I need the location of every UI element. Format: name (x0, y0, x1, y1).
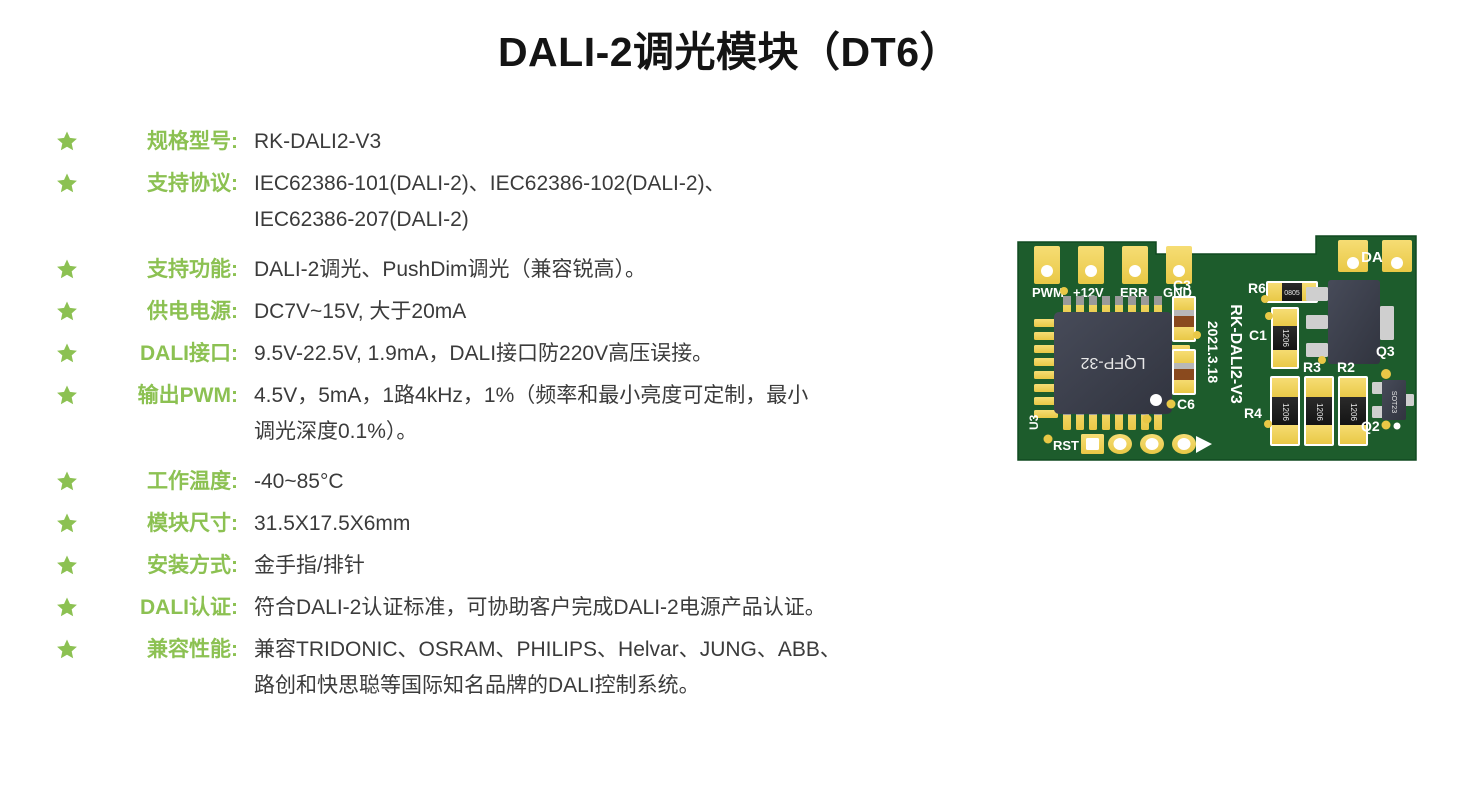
spec-row: 支持功能: DALI-2调光、PushDim调光（兼容锐高）。 (56, 256, 986, 284)
pcb-board-image: PWM +12V ERR GND (1016, 234, 1418, 462)
spec-value: -40~85°C (238, 468, 986, 496)
spec-value-line: 兼容TRIDONIC、OSRAM、PHILIPS、Helvar、JUNG、ABB… (254, 636, 986, 664)
star-icon (56, 596, 86, 618)
star-icon (56, 512, 86, 534)
spec-row: 工作温度: -40~85°C (56, 468, 986, 496)
spec-value-line: -40~85°C (254, 468, 986, 496)
spec-label: 模块尺寸: (86, 510, 238, 538)
page-title: DALI-2调光模块（DT6） (0, 28, 1459, 77)
spec-label: 安装方式: (86, 552, 238, 580)
spec-value-line: RK-DALI2-V3 (254, 128, 986, 156)
pcb-designator-c1: C1 (1249, 327, 1267, 343)
spec-value-line: 31.5X17.5X6mm (254, 510, 986, 538)
spec-value-line: 符合DALI-2认证标准，可协助客户完成DALI-2电源产品认证。 (254, 594, 986, 622)
spec-row: 兼容性能: 兼容TRIDONIC、OSRAM、PHILIPS、Helvar、JU… (56, 636, 986, 708)
pcb-silkscreen-partnumber: RK-DALI2-V3 (1227, 304, 1244, 404)
star-icon (56, 130, 86, 152)
pcb-component-r4: 1206 (1270, 376, 1300, 446)
pcb-designator-r6: R6 (1248, 280, 1266, 296)
spec-value: IEC62386-101(DALI-2)、IEC62386-102(DALI-2… (238, 170, 986, 242)
svg-text:1206: 1206 (1315, 403, 1324, 421)
pcb-designator-r3: R3 (1303, 359, 1321, 375)
spec-value: DC7V~15V, 大于20mA (238, 298, 986, 326)
spec-value-line: DC7V~15V, 大于20mA (254, 298, 986, 326)
spec-label: 工作温度: (86, 468, 238, 496)
spec-row: 安装方式: 金手指/排针 (56, 552, 986, 580)
star-icon (56, 300, 86, 322)
pcb-component-c6 (1172, 349, 1196, 395)
spec-value-line: 4.5V，5mA，1路4kHz，1%（频率和最小亮度可定制，最小 (254, 382, 986, 410)
pcb-chip-marking: LQFP-32 (1080, 354, 1145, 371)
star-icon (56, 554, 86, 576)
spec-value: DALI-2调光、PushDim调光（兼容锐高）。 (238, 256, 986, 284)
spec-value-line: DALI-2调光、PushDim调光（兼容锐高）。 (254, 256, 986, 284)
spec-label: 输出PWM: (86, 382, 238, 410)
spec-row: 输出PWM: 4.5V，5mA，1路4kHz，1%（频率和最小亮度可定制，最小 … (56, 382, 986, 454)
star-icon (56, 384, 86, 406)
spec-value-line: IEC62386-207(DALI-2) (254, 198, 986, 242)
pcb-dali-label: DA (1361, 249, 1383, 266)
spec-label: 兼容性能: (86, 636, 238, 664)
spec-row: DALI认证: 符合DALI-2认证标准，可协助客户完成DALI-2电源产品认证… (56, 594, 986, 622)
svg-text:1206: 1206 (1281, 329, 1290, 347)
pcb-lqfp32-chip: LQFP-32 (1034, 296, 1190, 430)
pcb-component-r2: 1206 (1338, 376, 1368, 446)
pcb-designator-r4: R4 (1244, 405, 1262, 421)
spec-value-line: IEC62386-101(DALI-2)、IEC62386-102(DALI-2… (254, 170, 986, 198)
pcb-gold-fingers (1081, 434, 1212, 454)
svg-text:1206: 1206 (1349, 403, 1358, 421)
spec-value-line: 9.5V-22.5V, 1.9mA，DALI接口防220V高压误接。 (254, 340, 986, 368)
pcb-designator-q3: Q3 (1376, 343, 1395, 359)
pcb-component-r3: 1206 (1304, 376, 1334, 446)
spec-value: RK-DALI2-V3 (238, 128, 986, 156)
spec-row: 模块尺寸: 31.5X17.5X6mm (56, 510, 986, 538)
star-icon (56, 342, 86, 364)
spec-value: 符合DALI-2认证标准，可协助客户完成DALI-2电源产品认证。 (238, 594, 986, 622)
pcb-component-c3 (1172, 296, 1196, 342)
spec-value: 4.5V，5mA，1路4kHz，1%（频率和最小亮度可定制，最小 调光深度0.1… (238, 382, 986, 454)
svg-text:1206: 1206 (1281, 403, 1290, 421)
specification-list: 规格型号: RK-DALI2-V3 支持协议: IEC62386-101(DAL… (56, 128, 986, 722)
spec-value-line: 路创和快思聪等国际知名品牌的DALI控制系统。 (254, 664, 986, 708)
star-icon (56, 258, 86, 280)
spec-value: 9.5V-22.5V, 1.9mA，DALI接口防220V高压误接。 (238, 340, 986, 368)
svg-text:0805: 0805 (1284, 290, 1300, 297)
spec-label: 支持协议: (86, 170, 238, 198)
spec-label: 支持功能: (86, 256, 238, 284)
pcb-pin-label-pwm: PWM (1032, 285, 1064, 300)
spec-label: DALI接口: (86, 340, 238, 368)
spec-value: 兼容TRIDONIC、OSRAM、PHILIPS、Helvar、JUNG、ABB… (238, 636, 986, 708)
star-icon (56, 172, 86, 194)
pcb-designator-q2: Q2 (1361, 418, 1380, 434)
spec-row: 支持协议: IEC62386-101(DALI-2)、IEC62386-102(… (56, 170, 986, 242)
spec-label: 供电电源: (86, 298, 238, 326)
spec-label: 规格型号: (86, 128, 238, 156)
spec-value-line: 调光深度0.1%）。 (254, 410, 986, 454)
spec-label: DALI认证: (86, 594, 238, 622)
spec-value-line: 金手指/排针 (254, 552, 986, 580)
star-icon (56, 638, 86, 660)
spec-row: 规格型号: RK-DALI2-V3 (56, 128, 986, 156)
star-icon (56, 470, 86, 492)
spec-row: 供电电源: DC7V~15V, 大于20mA (56, 298, 986, 326)
pcb-reset-label: RST (1053, 438, 1079, 453)
svg-text:SOT23: SOT23 (1390, 391, 1397, 413)
pcb-designator-c3: C3 (1173, 277, 1191, 293)
pcb-component-c1: 1206 (1271, 307, 1299, 369)
pcb-designator-c6: C6 (1177, 396, 1195, 412)
spec-value: 金手指/排针 (238, 552, 986, 580)
pcb-designator-r2: R2 (1337, 359, 1355, 375)
pcb-designator-u3: U3 (1027, 414, 1041, 430)
spec-value: 31.5X17.5X6mm (238, 510, 986, 538)
pcb-silkscreen-datecode: 2021.3.18 (1205, 321, 1221, 383)
spec-row: DALI接口: 9.5V-22.5V, 1.9mA，DALI接口防220V高压误… (56, 340, 986, 368)
